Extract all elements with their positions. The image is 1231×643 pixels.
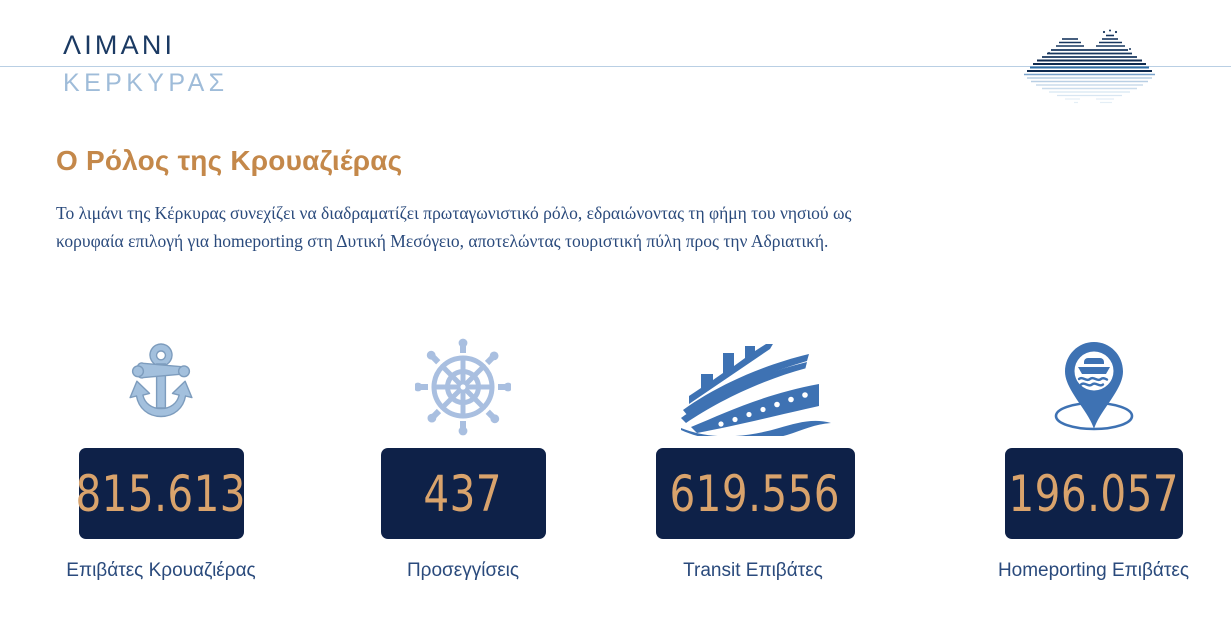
stat-label: Homeporting Επιβάτες [933, 560, 1231, 582]
page-title: Ο Ρόλος της Κρουαζιέρας [56, 145, 402, 177]
stat-value-card: 196.057 [1005, 448, 1183, 539]
stat-value: 619.556 [670, 469, 841, 519]
stat-value: 196.057 [1008, 469, 1179, 519]
stat-value-card: 815.613 [79, 448, 244, 539]
stat-value: 437 [424, 469, 503, 519]
page-intro-paragraph: Το λιμάνι της Κέρκυρας συνεχίζει να διαδ… [56, 199, 856, 255]
stat-label: Transit Επιβάτες [598, 560, 908, 582]
stats-row: 815.613 Επιβάτες Κρουαζιέρας [0, 328, 1231, 582]
stat-label: Προσεγγίσεις [323, 560, 603, 582]
ship-wheel-icon [323, 328, 603, 436]
map-pin-ship-icon [933, 328, 1231, 436]
stat-card-cruise-passengers: 815.613 Επιβάτες Κρουαζιέρας [0, 328, 320, 582]
stat-card-homeporting-passengers: 196.057 Homeporting Επιβάτες [910, 328, 1231, 582]
cruise-ship-lines-logo-icon [1018, 26, 1160, 108]
stat-value: 815.613 [76, 469, 247, 519]
brand-line-secondary: ΚΕΡΚΥΡΑΣ [63, 67, 323, 99]
stat-label: Επιβάτες Κρουαζιέρας [1, 560, 321, 582]
cruise-ship-icon [600, 328, 910, 436]
stat-card-calls: 437 Προσεγγίσεις [320, 328, 600, 582]
brand-logo-text: ΛΙΜΑΝΙ ΚΕΡΚΥΡΑΣ [63, 28, 323, 99]
stat-value-card: 437 [381, 448, 546, 539]
page-header: ΛΙΜΑΝΙ ΚΕΡΚΥΡΑΣ [0, 0, 1231, 118]
stat-value-card: 619.556 [656, 448, 855, 539]
anchor-icon [1, 328, 321, 436]
brand-line-primary: ΛΙΜΑΝΙ [63, 28, 323, 62]
stat-card-transit-passengers: 619.556 Transit Επιβάτες [600, 328, 910, 582]
